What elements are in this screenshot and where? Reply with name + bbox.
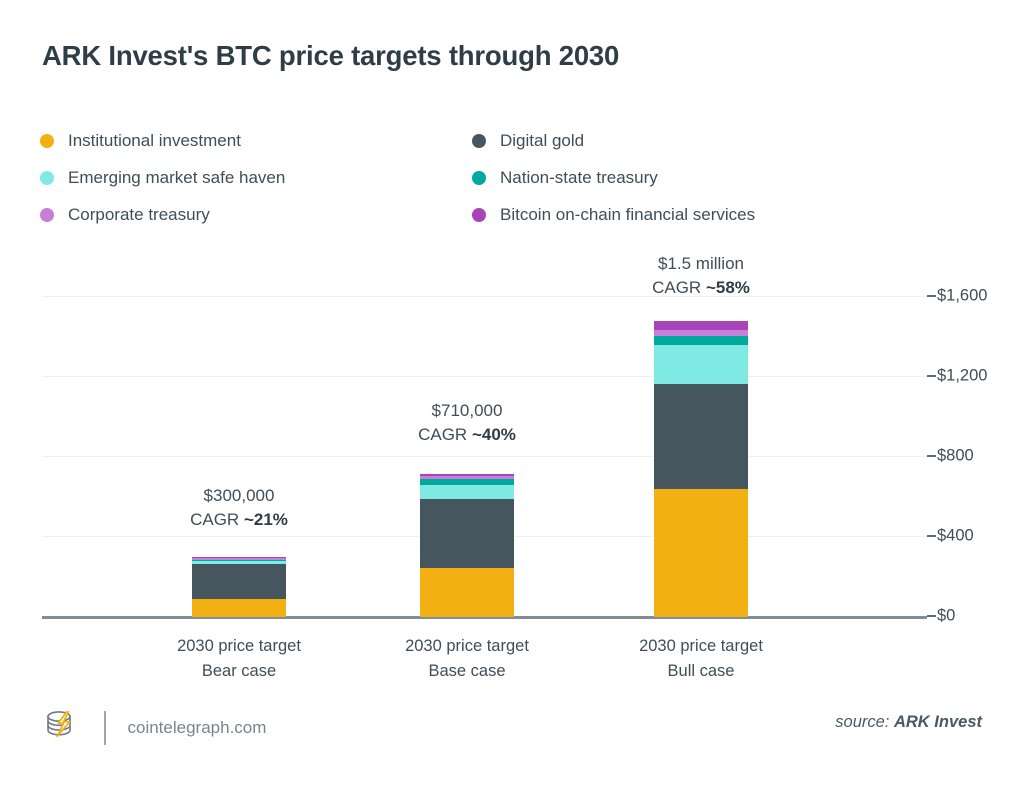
plot-area: $1,600 $1,200 $800 $400 $0 [42,250,982,630]
y-tick-mark [927,375,936,377]
bar-segment-emerging-market-safe-haven[interactable] [420,485,514,499]
bar-bear-case[interactable] [192,557,286,617]
x-axis-label-line2: Bull case [611,659,791,684]
legend-column-right: Digital gold Nation-state treasury Bitco… [472,122,872,233]
y-tick-mark [927,455,936,457]
legend-column-left: Institutional investment Emerging market… [40,122,470,233]
legend-item-nation-state-treasury[interactable]: Nation-state treasury [472,159,872,196]
legend-dot-icon [472,208,486,222]
bar-segment-institutional-investment[interactable] [420,568,514,617]
y-axis-label-0: $0 [937,607,955,626]
y-axis-label-1200: $1,200 [937,367,987,386]
x-axis-label-line1: 2030 price target [377,634,557,659]
bar-base-case[interactable] [420,474,514,617]
legend-dot-icon [40,171,54,185]
x-axis-label-line2: Base case [377,659,557,684]
bar-segment-nation-state-treasury[interactable] [654,336,748,345]
source-prefix: source: [835,713,894,731]
gridline-1600 [42,296,927,297]
x-axis-label-bull-case: 2030 price target Bull case [611,634,791,684]
legend-item-label: Corporate treasury [68,205,210,225]
y-axis-label-800: $800 [937,447,974,466]
footer-source: source: ARK Invest [835,713,982,732]
footer-site-label[interactable]: cointelegraph.com [128,718,267,738]
bar-segment-institutional-investment[interactable] [192,599,286,617]
legend-dot-icon [40,134,54,148]
gridline-800 [42,456,927,457]
footer-branding[interactable]: cointelegraph.com [42,705,266,750]
cointelegraph-logo-icon [42,705,84,750]
page-title: ARK Invest's BTC price targets through 2… [42,40,619,72]
legend-dot-icon [472,134,486,148]
legend-item-label: Digital gold [500,131,584,151]
y-axis-label-1600: $1,600 [937,287,987,306]
bar-annotation-cagr: CAGR ~40% [387,423,547,447]
y-tick-mark [927,535,936,537]
y-tick-mark [927,295,936,297]
legend-item-emerging-market-safe-haven[interactable]: Emerging market safe haven [40,159,470,196]
bar-annotation-value: $1.5 million [621,252,781,276]
cagr-prefix: CAGR [190,510,244,529]
bar-annotation-bull-case: $1.5 million CAGR ~58% [621,252,781,300]
footer-divider [104,711,106,745]
cagr-prefix: CAGR [652,278,706,297]
legend-dot-icon [472,171,486,185]
bar-annotation-cagr: CAGR ~58% [621,276,781,300]
legend-item-institutional-investment[interactable]: Institutional investment [40,122,470,159]
cagr-value: ~58% [706,278,750,297]
y-tick-mark [927,615,936,617]
legend-item-label: Bitcoin on-chain financial services [500,205,755,225]
legend-item-label: Nation-state treasury [500,168,658,188]
x-axis-label-line1: 2030 price target [149,634,329,659]
bar-annotation-cagr: CAGR ~21% [159,508,319,532]
legend-item-bitcoin-on-chain-financial-services[interactable]: Bitcoin on-chain financial services [472,196,872,233]
bar-annotation-value: $300,000 [159,484,319,508]
bar-segment-emerging-market-safe-haven[interactable] [654,345,748,384]
bar-segment-bitcoin-on-chain-financial-services[interactable] [654,321,748,330]
bar-segment-digital-gold[interactable] [192,564,286,599]
legend-item-digital-gold[interactable]: Digital gold [472,122,872,159]
bar-annotation-bear-case: $300,000 CAGR ~21% [159,484,319,532]
bar-segment-digital-gold[interactable] [420,499,514,568]
bar-annotation-base-case: $710,000 CAGR ~40% [387,399,547,447]
chart-page: ARK Invest's BTC price targets through 2… [0,0,1024,797]
bar-annotation-value: $710,000 [387,399,547,423]
legend-dot-icon [40,208,54,222]
footer: cointelegraph.com source: ARK Invest [0,687,1024,797]
legend-item-corporate-treasury[interactable]: Corporate treasury [40,196,470,233]
x-axis-label-line2: Bear case [149,659,329,684]
x-axis-label-base-case: 2030 price target Base case [377,634,557,684]
bar-segment-institutional-investment[interactable] [654,489,748,617]
x-axis-label-line1: 2030 price target [611,634,791,659]
legend-item-label: Institutional investment [68,131,241,151]
cagr-value: ~21% [244,510,288,529]
source-name: ARK Invest [894,713,982,731]
y-axis-label-400: $400 [937,527,974,546]
bar-segment-digital-gold[interactable] [654,384,748,489]
x-axis-label-bear-case: 2030 price target Bear case [149,634,329,684]
bar-bull-case[interactable] [654,321,748,617]
gridline-1200 [42,376,927,377]
cagr-prefix: CAGR [418,425,472,444]
cagr-value: ~40% [472,425,516,444]
legend-item-label: Emerging market safe haven [68,168,285,188]
